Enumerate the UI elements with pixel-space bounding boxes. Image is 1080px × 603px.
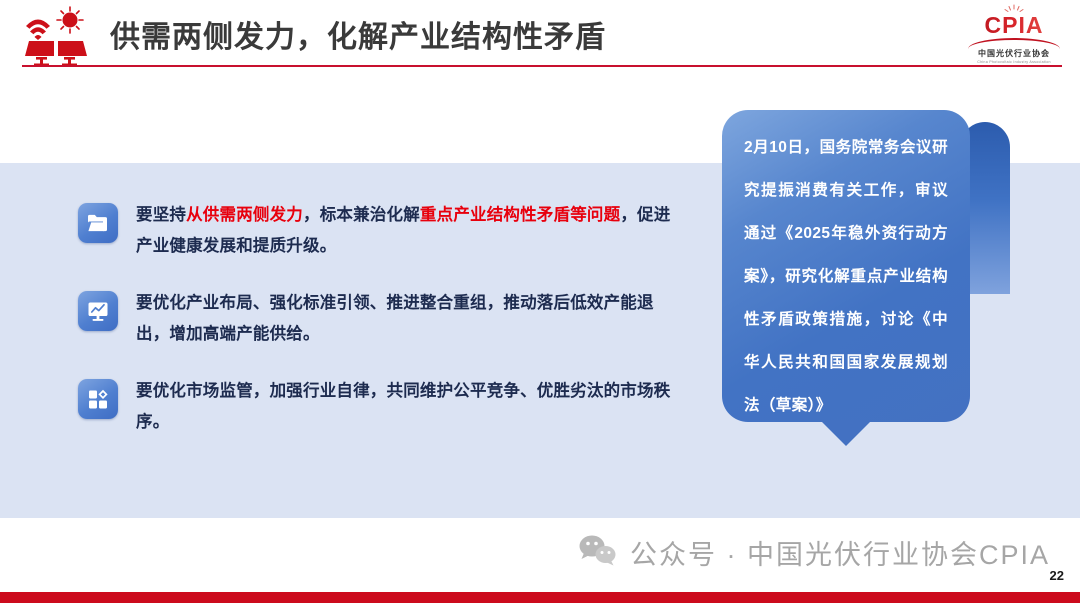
cpia-cn-name: 中国光伏行业协会 (966, 49, 1062, 59)
list-item-text: 要坚持从供需两侧发力，标本兼治化解重点产业结构性矛盾等问题，促进产业健康发展和提… (136, 200, 678, 262)
header-divider (22, 65, 1062, 67)
cpia-en-name: China Photovoltaic Industry Association (971, 59, 1057, 64)
page-title: 供需两侧发力，化解产业结构性矛盾 (110, 12, 606, 56)
slide-header: 供需两侧发力，化解产业结构性矛盾 CPIA 中国光伏行业协会 China Pho… (0, 0, 1080, 70)
list-item-text: 要优化市场监管，加强行业自律，共同维护公平竞争、优胜劣汰的市场秩序。 (136, 376, 678, 438)
monitor-chart-icon (78, 291, 118, 331)
bullet-list: 要坚持从供需两侧发力，标本兼治化解重点产业结构性矛盾等问题，促进产业健康发展和提… (78, 200, 678, 464)
grid-blocks-icon (78, 379, 118, 419)
text-segment: 要坚持 (136, 206, 186, 224)
solar-panel-icon (16, 4, 94, 66)
text-segment: 要优化产业布局、强化标准引领、推进整合重组，推动落后低效产能退出，增加高端产能供… (136, 294, 654, 343)
cpia-arc (968, 38, 1060, 49)
wechat-icon (578, 533, 618, 572)
list-item-text: 要优化产业布局、强化标准引领、推进整合重组，推动落后低效产能退出，增加高端产能供… (136, 288, 678, 350)
sun-rays-icon (1001, 4, 1027, 16)
bottom-bar (0, 592, 1080, 603)
list-item: 要优化市场监管，加强行业自律，共同维护公平竞争、优胜劣汰的市场秩序。 (78, 376, 678, 438)
callout-text: 2月10日，国务院常务会议研究提振消费有关工作，审议通过《2025年稳外资行动方… (744, 126, 948, 427)
page-number: 22 (1050, 568, 1064, 583)
text-segment: ，标本兼治化解 (303, 206, 420, 224)
footer-text: 公众号 · 中国光伏行业协会CPIA (630, 533, 1050, 572)
folder-icon (78, 203, 118, 243)
list-item: 要优化产业布局、强化标准引领、推进整合重组，推动落后低效产能退出，增加高端产能供… (78, 288, 678, 350)
footer-brand: 公众号 · 中国光伏行业协会CPIA (578, 533, 1050, 572)
callout-box: 2月10日，国务院常务会议研究提振消费有关工作，审议通过《2025年稳外资行动方… (722, 110, 970, 422)
text-segment: 要优化市场监管，加强行业自律，共同维护公平竞争、优胜劣汰的市场秩序。 (136, 382, 670, 431)
callout-tail (820, 420, 872, 446)
text-segment-highlight: 从供需两侧发力 (186, 206, 303, 224)
cpia-logo: CPIA 中国光伏行业协会 China Photovoltaic Industr… (966, 4, 1062, 62)
list-item: 要坚持从供需两侧发力，标本兼治化解重点产业结构性矛盾等问题，促进产业健康发展和提… (78, 200, 678, 262)
text-segment-highlight: 重点产业结构性矛盾等问题 (420, 206, 620, 224)
